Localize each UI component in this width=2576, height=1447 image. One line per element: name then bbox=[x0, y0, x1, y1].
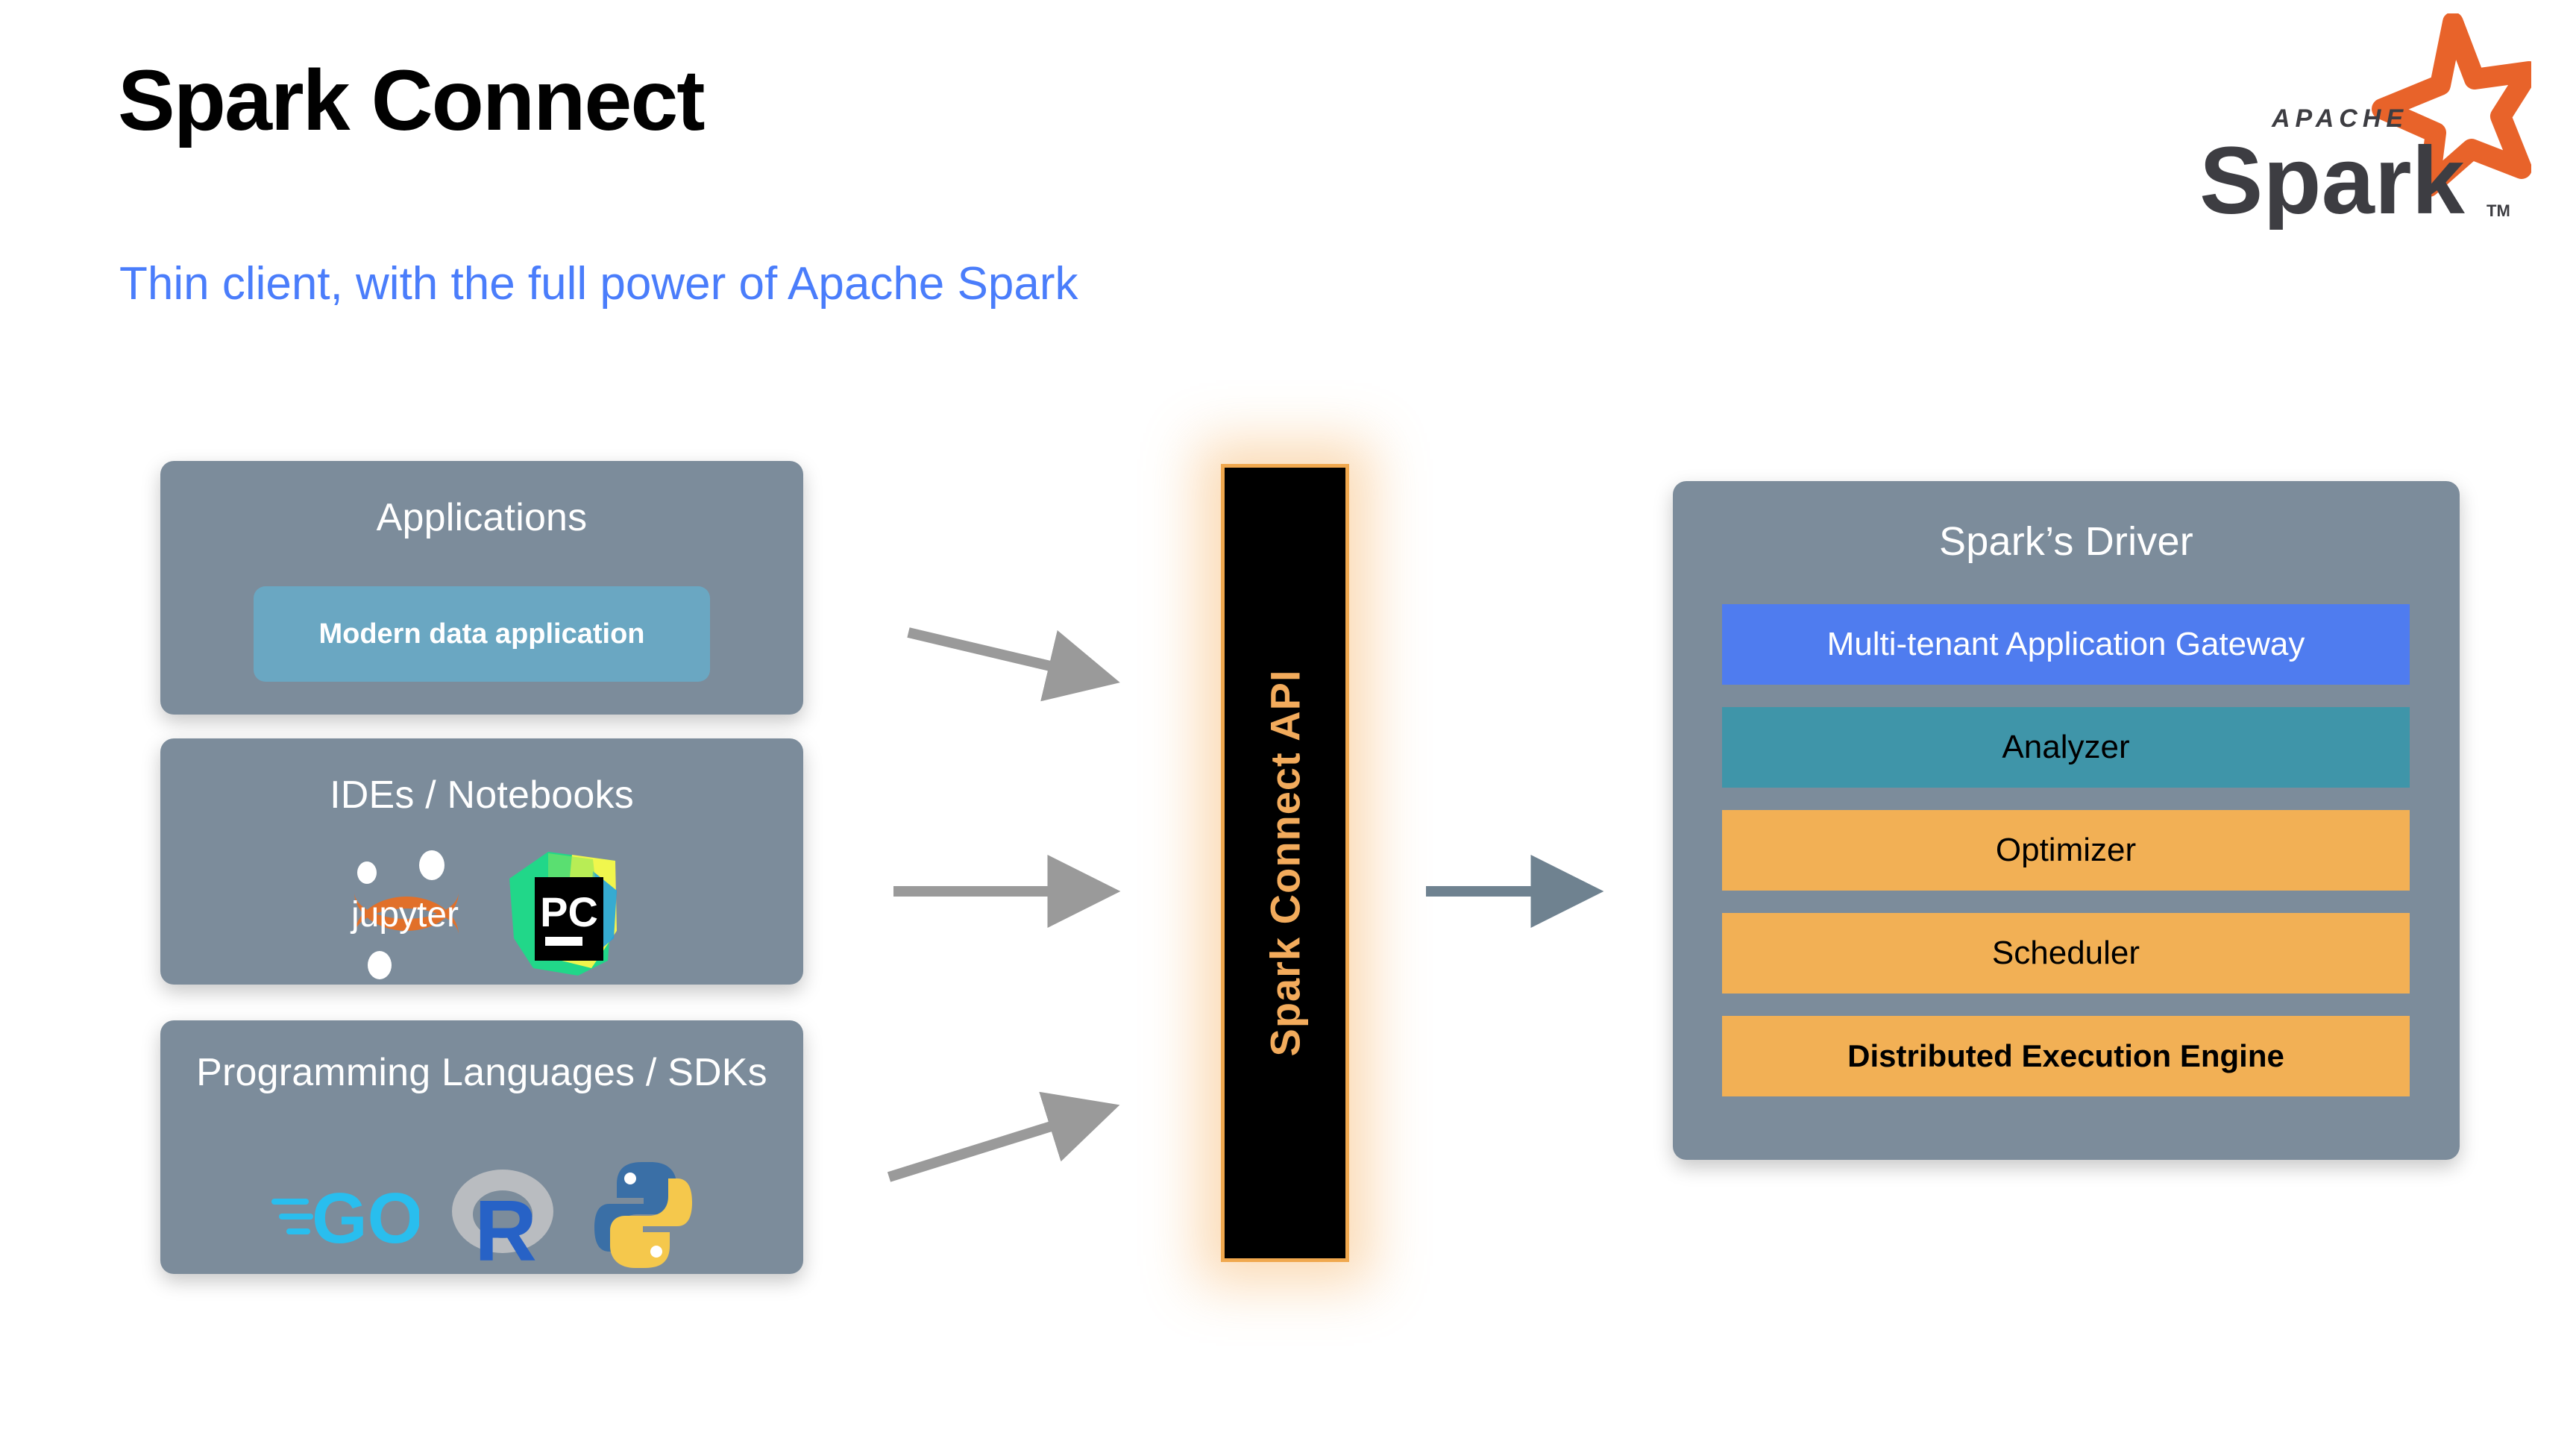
spark-connect-api-label: Spark Connect API bbox=[1261, 669, 1310, 1056]
svg-text:PC: PC bbox=[540, 888, 598, 935]
panel-applications-title: Applications bbox=[160, 497, 803, 539]
driver-item-distributed-execution-engine[interactable]: Distributed Execution Engine bbox=[1722, 1016, 2410, 1096]
svg-text:jupyter: jupyter bbox=[350, 895, 459, 935]
arrow-languages-to-api bbox=[889, 1110, 1104, 1177]
svg-text:R: R bbox=[474, 1182, 537, 1271]
driver-component-stack: Multi-tenant Application Gateway Analyze… bbox=[1722, 604, 2410, 1096]
spark-connect-api-column[interactable]: Spark Connect API bbox=[1221, 464, 1349, 1262]
driver-item-optimizer[interactable]: Optimizer bbox=[1722, 810, 2410, 891]
page-subtitle: Thin client, with the full power of Apac… bbox=[119, 261, 1078, 307]
modern-data-application-chip[interactable]: Modern data application bbox=[254, 586, 710, 682]
pycharm-logo: PC bbox=[503, 849, 623, 983]
jupyter-logo: jupyter bbox=[341, 849, 483, 983]
driver-item-multi-tenant-application-gateway[interactable]: Multi-tenant Application Gateway bbox=[1722, 604, 2410, 685]
page-title: Spark Connect bbox=[118, 58, 704, 144]
panel-programming-languages-sdks-title: Programming Languages / SDKs bbox=[160, 1052, 803, 1094]
svg-text:GO: GO bbox=[312, 1178, 419, 1258]
panel-programming-languages-sdks[interactable]: Programming Languages / SDKs GO R bbox=[160, 1020, 803, 1274]
panel-applications[interactable]: Applications Modern data application bbox=[160, 461, 803, 715]
go-logo: GO bbox=[270, 1170, 419, 1264]
arrow-applications-to-api bbox=[908, 633, 1104, 679]
python-logo bbox=[593, 1159, 694, 1275]
apache-spark-logo: APACHE Spark TM bbox=[2158, 13, 2531, 230]
driver-item-analyzer[interactable]: Analyzer bbox=[1722, 707, 2410, 788]
panel-ides-notebooks-title: IDEs / Notebooks bbox=[160, 774, 803, 817]
panel-ides-notebooks[interactable]: IDEs / Notebooks jupyter PC bbox=[160, 738, 803, 985]
r-logo: R bbox=[444, 1159, 568, 1275]
panel-sparks-driver-title: Spark’s Driver bbox=[1673, 520, 2460, 564]
logo-trademark: TM bbox=[2487, 201, 2510, 220]
logo-spark-text: Spark bbox=[2199, 128, 2466, 230]
panel-sparks-driver[interactable]: Spark’s Driver Multi-tenant Application … bbox=[1673, 481, 2460, 1160]
driver-item-scheduler[interactable]: Scheduler bbox=[1722, 913, 2410, 994]
